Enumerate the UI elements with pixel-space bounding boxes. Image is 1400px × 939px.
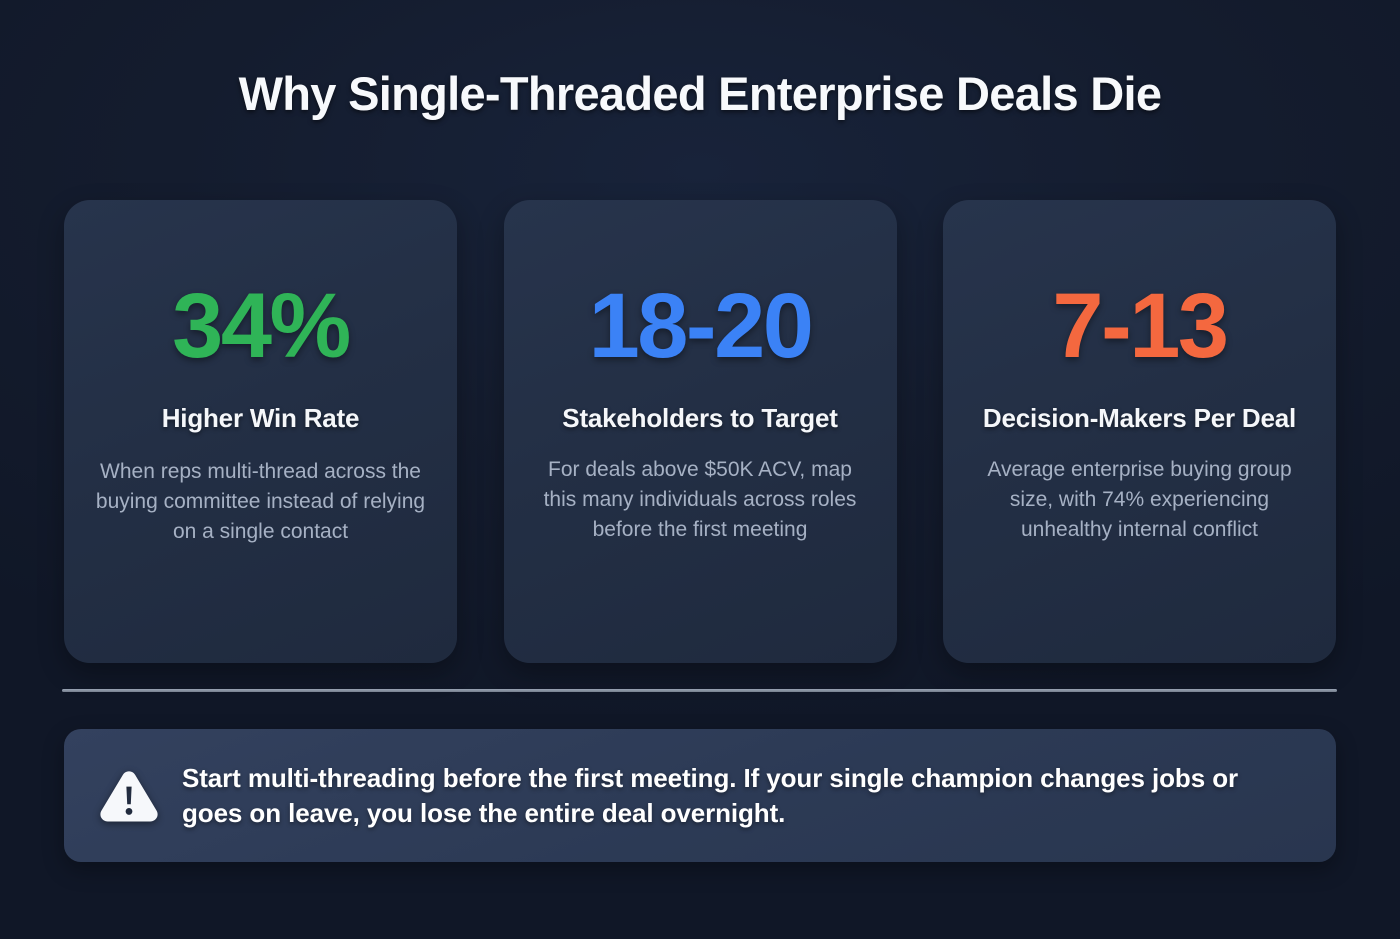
infographic-root: Why Single-Threaded Enterprise Deals Die… [0, 0, 1400, 939]
stat-description: Average enterprise buying group size, wi… [975, 455, 1305, 544]
page-title: Why Single-Threaded Enterprise Deals Die [0, 66, 1400, 121]
warning-triangle-icon [98, 766, 160, 828]
stat-card-grid: 34% Higher Win Rate When reps multi-thre… [64, 200, 1336, 663]
callout-banner: Start multi-threading before the first m… [64, 729, 1336, 862]
callout-text: Start multi-threading before the first m… [182, 761, 1296, 831]
stat-value: 18-20 [589, 280, 812, 372]
stat-card-decision-makers-per-deal: 7-13 Decision-Makers Per Deal Average en… [943, 200, 1336, 663]
stat-value: 7-13 [1052, 280, 1226, 372]
stat-card-stakeholders-to-target: 18-20 Stakeholders to Target For deals a… [504, 200, 897, 663]
section-divider [62, 689, 1337, 692]
stat-description: When reps multi-thread across the buying… [96, 457, 426, 546]
stat-label: Decision-Makers Per Deal [983, 402, 1296, 435]
stat-value: 34% [172, 280, 349, 372]
stat-label: Higher Win Rate [162, 402, 360, 435]
stat-description: For deals above $50K ACV, map this many … [535, 455, 865, 544]
stat-card-higher-win-rate: 34% Higher Win Rate When reps multi-thre… [64, 200, 457, 663]
stat-label: Stakeholders to Target [562, 402, 837, 435]
